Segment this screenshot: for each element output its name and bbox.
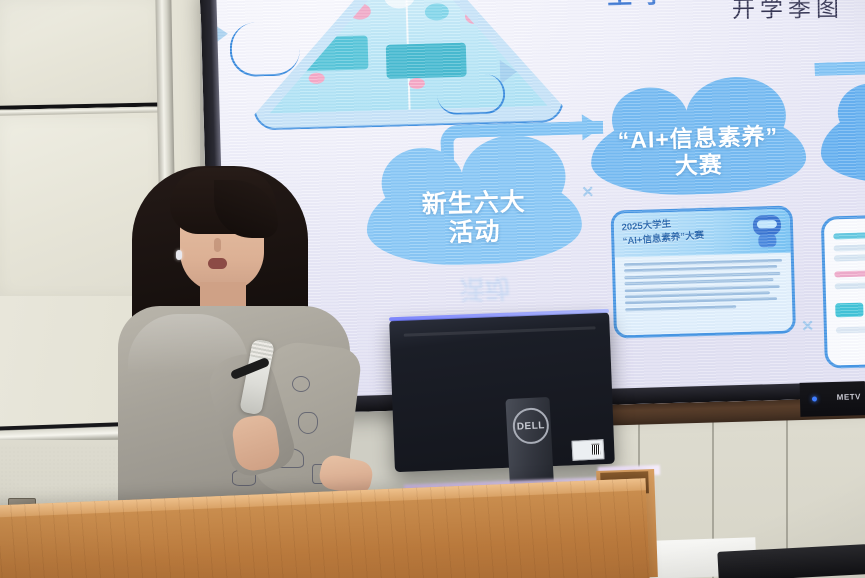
competition-notice-card: 2025大学生 “AI+信息素养”大赛 bbox=[610, 206, 796, 339]
monitor-barcode-label bbox=[571, 439, 604, 461]
x-mark-1: × bbox=[582, 181, 594, 204]
triangle-poster-graphic bbox=[249, 0, 564, 131]
av-device-brand-label: METV bbox=[837, 392, 861, 402]
cloud-b-line1: “AI+信息素养” bbox=[617, 123, 778, 153]
cloud-a-reflection: 活动 bbox=[404, 270, 565, 310]
cloud-a-line2: 活动 bbox=[448, 218, 501, 247]
monitor-vent-slot bbox=[404, 326, 596, 336]
card-title-line1: 2025大学生 bbox=[621, 219, 671, 234]
power-led-indicator bbox=[812, 396, 817, 401]
slide-title: 开学季图 bbox=[732, 0, 844, 24]
earring bbox=[176, 250, 182, 260]
nose bbox=[214, 238, 221, 252]
arrow-head-right bbox=[582, 114, 603, 141]
card-body-text-lines bbox=[624, 259, 783, 315]
mobile-preview-card bbox=[821, 213, 865, 368]
hair-front bbox=[170, 168, 276, 234]
cloud-ai-literacy-competition: “AI+信息素养” 大赛 bbox=[590, 107, 807, 197]
cloud-a-line1: 新生六大 bbox=[421, 187, 526, 218]
mouth bbox=[208, 258, 227, 269]
slide-top-text: 全季 bbox=[606, 0, 675, 12]
x-mark-2: × bbox=[801, 315, 813, 338]
classroom-photo: 全季 新生六大 活动 “AI+信息素养” 大赛 资料 bbox=[0, 0, 865, 578]
whiteboard-panel-upper bbox=[0, 0, 158, 108]
cloud-b-line2: 大赛 bbox=[674, 151, 723, 178]
presenter: LIVED BUSY bbox=[110, 158, 360, 518]
av-control-device[interactable]: METV bbox=[800, 381, 865, 417]
robot-mascot-icon bbox=[750, 213, 785, 250]
cloud-new-student-activities: 新生六大 活动 bbox=[365, 169, 582, 267]
dell-logo: DELL bbox=[512, 407, 550, 445]
